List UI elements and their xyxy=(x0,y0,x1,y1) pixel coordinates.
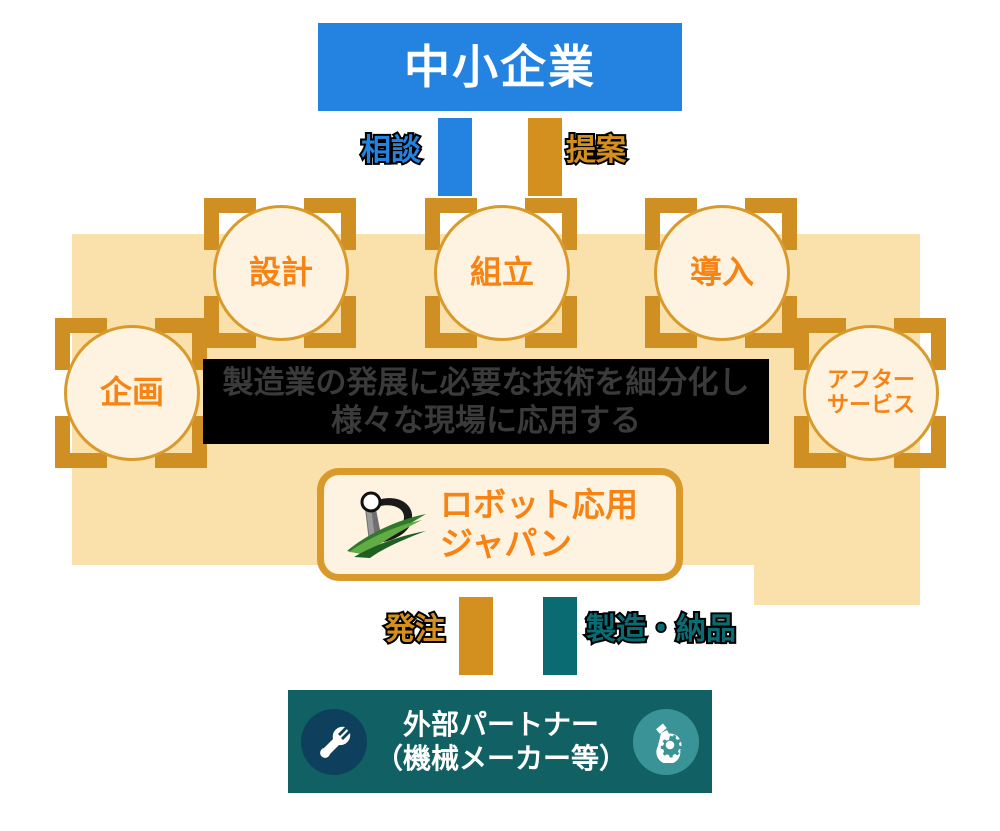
process-node-introduction[interactable]: 導入 xyxy=(645,198,797,348)
wrench-icon xyxy=(301,709,367,775)
partner-line2: （機械メーカー等） xyxy=(375,743,627,774)
robot-arm-leaf-logo xyxy=(344,489,430,561)
sme-header-label: 中小企業 xyxy=(404,44,596,90)
connector-bar-consult xyxy=(438,118,472,196)
mission-line-2: 様々な現場に応用する xyxy=(331,402,641,440)
process-node-label: 企画 xyxy=(100,375,164,411)
process-node-label: 設計 xyxy=(249,255,313,291)
flow-label-propose: 提案 xyxy=(566,136,626,166)
company-name: ロボット応用 ジャパン xyxy=(440,486,638,564)
flask-gear-icon xyxy=(633,709,699,775)
partner-line1: 外部パートナー xyxy=(403,709,599,740)
external-partner-label: 外部パートナー （機械メーカー等） xyxy=(375,708,627,775)
mission-line-1: 製造業の発展に必要な技術を細分化し xyxy=(223,364,750,402)
after-service-line2: サービス xyxy=(827,392,915,417)
process-node-label: アフター サービス xyxy=(827,368,915,417)
process-node-after-service[interactable]: アフター サービス xyxy=(794,318,946,468)
process-node-label: 組立 xyxy=(470,255,534,291)
connector-bar-deliver xyxy=(543,597,577,675)
process-node-assembly[interactable]: 組立 xyxy=(425,198,577,348)
flow-label-order: 発注 xyxy=(385,615,445,645)
company-name-line1: ロボット応用 xyxy=(440,486,638,523)
flow-label-consult: 相談 xyxy=(361,136,421,166)
process-node-planning[interactable]: 企画 xyxy=(55,318,207,468)
flow-label-deliver: 製造・納品 xyxy=(586,615,736,645)
connector-bar-propose xyxy=(528,118,562,196)
connector-bar-order xyxy=(459,597,493,675)
mission-statement-box: 製造業の発展に必要な技術を細分化し 様々な現場に応用する xyxy=(203,359,769,444)
external-partner-box[interactable]: 外部パートナー （機械メーカー等） xyxy=(288,690,712,793)
company-name-line2: ジャパン xyxy=(440,525,572,562)
diagram-canvas: 中小企業 相談 提案 設計 xyxy=(0,0,1000,831)
after-service-line1: アフター xyxy=(827,367,915,392)
process-node-design[interactable]: 設計 xyxy=(204,198,356,348)
company-card[interactable]: ロボット応用 ジャパン xyxy=(317,468,683,581)
sme-header-box[interactable]: 中小企業 xyxy=(318,23,682,111)
process-node-label: 導入 xyxy=(690,255,754,291)
